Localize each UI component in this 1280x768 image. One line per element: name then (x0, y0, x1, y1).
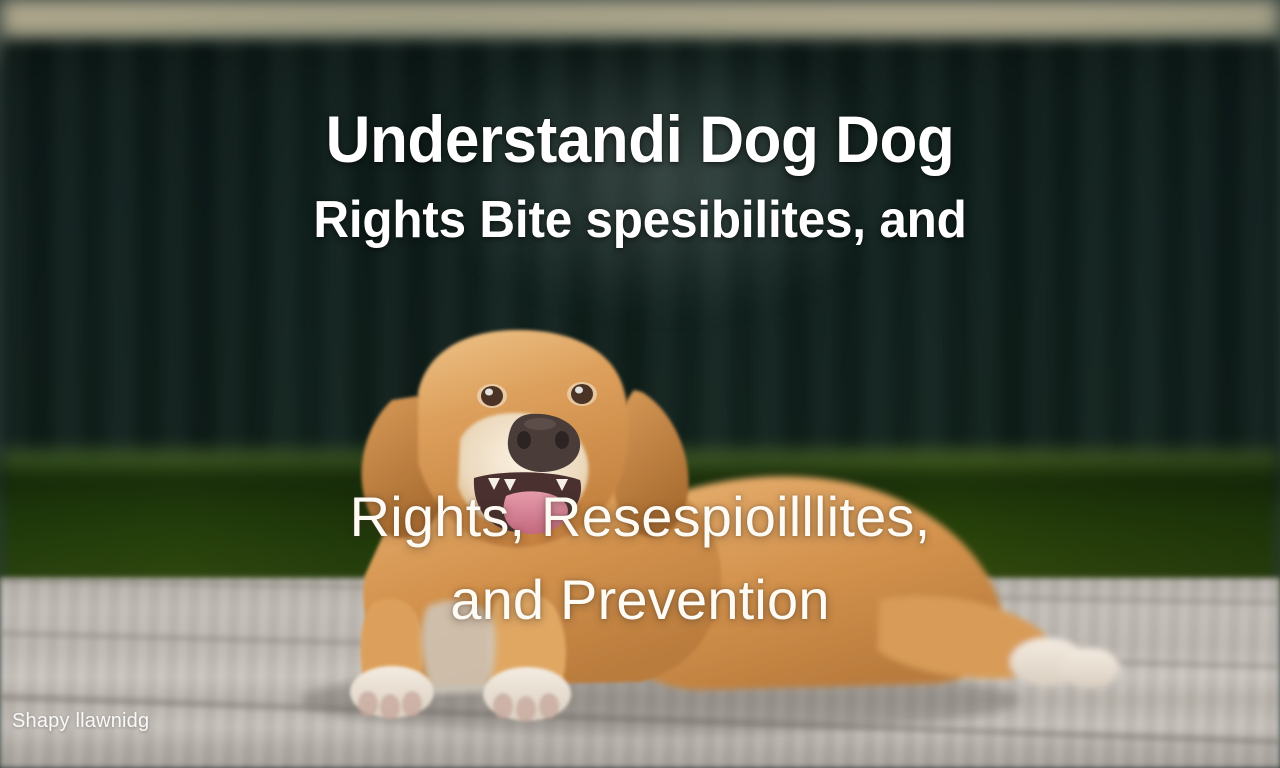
bottom-headline-block: Rights, Resespioilllites, and Prevention (0, 488, 1280, 628)
banner-image: Understandi Dog Dog Rights Bite spesibil… (0, 0, 1280, 768)
headline-bottom-line-2: and Prevention (0, 571, 1280, 628)
headline-bottom-line-1: Rights, Resespioilllites, (0, 488, 1280, 545)
top-headline-block: Understandi Dog Dog Rights Bite spesibil… (0, 106, 1280, 246)
headline-top-line-2: Rights Bite spesibilites, and (32, 194, 1248, 246)
watermark-label: Shapy llawnidg (12, 710, 149, 733)
headline-top-line-1: Understandi Dog Dog (38, 106, 1241, 172)
